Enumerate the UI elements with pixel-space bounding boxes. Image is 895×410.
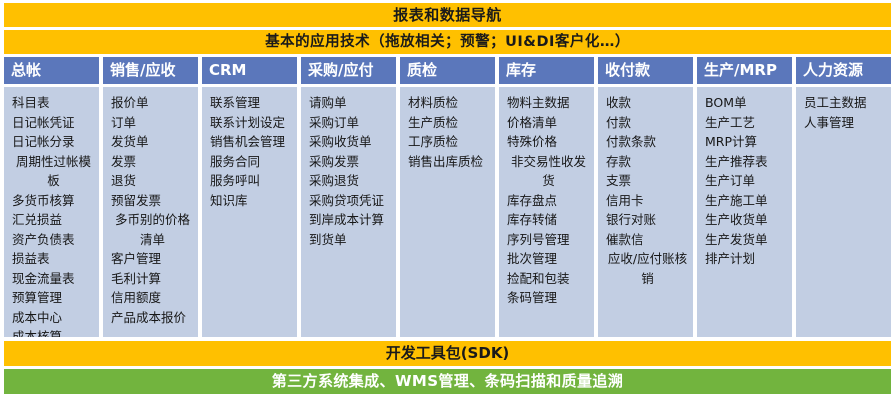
module-column-header[interactable]: 收付款 [598, 57, 693, 84]
module-item[interactable]: 退货 [111, 171, 194, 191]
module-column-header[interactable]: 总帐 [4, 57, 99, 84]
module-item-list: 联系管理联系计划设定销售机会管理服务合同服务呼叫知识库 [202, 87, 297, 337]
module-item[interactable]: 采购贷项凭证 [309, 191, 392, 211]
module-item[interactable]: 收款 [606, 93, 689, 113]
module-item-list: 科目表日记帐凭证日记帐分录周期性过帐模板多货币核算汇兑损益资产负债表损益表现金流… [4, 87, 99, 337]
module-item[interactable]: 材料质检 [408, 93, 491, 113]
module-item[interactable]: 非交易性收发货 [507, 152, 590, 191]
module-item[interactable]: 成本中心 [12, 308, 95, 328]
module-column-header[interactable]: 销售/应收 [103, 57, 198, 84]
module-item[interactable]: 付款 [606, 113, 689, 133]
module-item-list: BOM单生产工艺MRP计算生产推荐表生产订单生产施工单生产收货单生产发货单排产计… [697, 87, 792, 337]
module-item[interactable]: 生产收货单 [705, 210, 788, 230]
module-column-header[interactable]: CRM [202, 57, 297, 84]
module-item[interactable]: 存款 [606, 152, 689, 172]
module-column-header[interactable]: 人力资源 [796, 57, 891, 84]
module-item[interactable]: 发货单 [111, 132, 194, 152]
module-column-header[interactable]: 库存 [499, 57, 594, 84]
module-item-list: 请购单采购订单采购收货单采购发票采购退货采购贷项凭证到岸成本计算到货单 [301, 87, 396, 337]
module-item[interactable]: 序列号管理 [507, 230, 590, 250]
module-column-header[interactable]: 采购/应付 [301, 57, 396, 84]
module-column: 销售/应收报价单订单发货单发票退货预留发票多币别的价格清单客户管理毛利计算信用额… [103, 57, 198, 337]
module-item[interactable]: 采购收货单 [309, 132, 392, 152]
module-item[interactable]: 物料主数据 [507, 93, 590, 113]
module-column: 质检材料质检生产质检工序质检销售出库质检 [400, 57, 495, 337]
sdk-bar: 开发工具包(SDK) [4, 341, 891, 366]
module-item[interactable]: 服务呼叫 [210, 171, 293, 191]
module-item[interactable]: BOM单 [705, 93, 788, 113]
module-item[interactable]: 生产施工单 [705, 191, 788, 211]
module-item[interactable]: 成本核算 [12, 327, 95, 337]
module-item[interactable]: 预算管理 [12, 288, 95, 308]
module-item[interactable]: 生产订单 [705, 171, 788, 191]
module-item[interactable]: MRP计算 [705, 132, 788, 152]
module-item[interactable]: 批次管理 [507, 249, 590, 269]
module-item[interactable]: 联系计划设定 [210, 113, 293, 133]
module-item[interactable]: 现金流量表 [12, 269, 95, 289]
module-item[interactable]: 催款信 [606, 230, 689, 250]
module-item[interactable]: 捡配和包装 [507, 269, 590, 289]
module-column: 生产/MRPBOM单生产工艺MRP计算生产推荐表生产订单生产施工单生产收货单生产… [697, 57, 792, 337]
module-item[interactable]: 请购单 [309, 93, 392, 113]
module-item[interactable]: 信用卡 [606, 191, 689, 211]
module-item[interactable]: 资产负债表 [12, 230, 95, 250]
module-item[interactable]: 人事管理 [804, 113, 887, 133]
module-item[interactable]: 报价单 [111, 93, 194, 113]
module-item[interactable]: 到岸成本计算 [309, 210, 392, 230]
module-item[interactable]: 预留发票 [111, 191, 194, 211]
module-item[interactable]: 特殊价格 [507, 132, 590, 152]
module-item[interactable]: 采购发票 [309, 152, 392, 172]
module-item[interactable]: 生产质检 [408, 113, 491, 133]
module-item[interactable]: 应收/应付账核销 [606, 249, 689, 288]
module-column-header[interactable]: 生产/MRP [697, 57, 792, 84]
module-item[interactable]: 采购订单 [309, 113, 392, 133]
module-item-list: 员工主数据人事管理 [796, 87, 891, 337]
module-item[interactable]: 员工主数据 [804, 93, 887, 113]
module-column: CRM联系管理联系计划设定销售机会管理服务合同服务呼叫知识库 [202, 57, 297, 337]
module-item[interactable]: 条码管理 [507, 288, 590, 308]
integration-bar: 第三方系统集成、WMS管理、条码扫描和质量追溯 [4, 369, 891, 394]
module-item-list: 报价单订单发货单发票退货预留发票多币别的价格清单客户管理毛利计算信用额度产品成本… [103, 87, 198, 337]
module-item[interactable]: 发票 [111, 152, 194, 172]
module-item[interactable]: 采购退货 [309, 171, 392, 191]
module-item[interactable]: 排产计划 [705, 249, 788, 269]
banner-title: 报表和数据导航 [4, 3, 891, 27]
module-item[interactable]: 订单 [111, 113, 194, 133]
module-item[interactable]: 销售机会管理 [210, 132, 293, 152]
module-item[interactable]: 价格清单 [507, 113, 590, 133]
module-column: 库存物料主数据价格清单特殊价格非交易性收发货库存盘点库存转储序列号管理批次管理捡… [499, 57, 594, 337]
module-column: 采购/应付请购单采购订单采购收货单采购发票采购退货采购贷项凭证到岸成本计算到货单 [301, 57, 396, 337]
module-item[interactable]: 毛利计算 [111, 269, 194, 289]
module-item[interactable]: 产品成本报价 [111, 308, 194, 328]
module-column: 收付款收款付款付款条款存款支票信用卡银行对账催款信应收/应付账核销 [598, 57, 693, 337]
module-item[interactable]: 生产发货单 [705, 230, 788, 250]
module-item[interactable]: 日记帐凭证 [12, 113, 95, 133]
module-columns: 总帐科目表日记帐凭证日记帐分录周期性过帐模板多货币核算汇兑损益资产负债表损益表现… [4, 57, 891, 337]
module-item[interactable]: 销售出库质检 [408, 152, 491, 172]
module-item-list: 物料主数据价格清单特殊价格非交易性收发货库存盘点库存转储序列号管理批次管理捡配和… [499, 87, 594, 337]
module-item[interactable]: 支票 [606, 171, 689, 191]
module-item[interactable]: 服务合同 [210, 152, 293, 172]
module-item[interactable]: 生产推荐表 [705, 152, 788, 172]
module-item[interactable]: 汇兑损益 [12, 210, 95, 230]
module-item[interactable]: 周期性过帐模板 [12, 152, 95, 191]
module-item[interactable]: 联系管理 [210, 93, 293, 113]
module-item[interactable]: 客户管理 [111, 249, 194, 269]
module-item[interactable]: 银行对账 [606, 210, 689, 230]
module-column-header[interactable]: 质检 [400, 57, 495, 84]
module-item[interactable]: 多货币核算 [12, 191, 95, 211]
module-item[interactable]: 到货单 [309, 230, 392, 250]
module-item[interactable]: 付款条款 [606, 132, 689, 152]
module-item-list: 收款付款付款条款存款支票信用卡银行对账催款信应收/应付账核销 [598, 87, 693, 337]
module-item[interactable]: 科目表 [12, 93, 95, 113]
module-item[interactable]: 库存转储 [507, 210, 590, 230]
module-column: 人力资源员工主数据人事管理 [796, 57, 891, 337]
module-item-list: 材料质检生产质检工序质检销售出库质检 [400, 87, 495, 337]
module-item[interactable]: 知识库 [210, 191, 293, 211]
erp-module-navigation-diagram: 报表和数据导航 基本的应用技术（拖放相关；预警；UI&DI客户化…） 总帐科目表… [0, 0, 895, 410]
module-item[interactable]: 日记帐分录 [12, 132, 95, 152]
banner-subtitle: 基本的应用技术（拖放相关；预警；UI&DI客户化…） [4, 30, 891, 54]
module-item[interactable]: 生产工艺 [705, 113, 788, 133]
module-column: 总帐科目表日记帐凭证日记帐分录周期性过帐模板多货币核算汇兑损益资产负债表损益表现… [4, 57, 99, 337]
module-item[interactable]: 损益表 [12, 249, 95, 269]
module-item[interactable]: 库存盘点 [507, 191, 590, 211]
module-item[interactable]: 信用额度 [111, 288, 194, 308]
module-item[interactable]: 工序质检 [408, 132, 491, 152]
module-item[interactable]: 多币别的价格清单 [111, 210, 194, 249]
